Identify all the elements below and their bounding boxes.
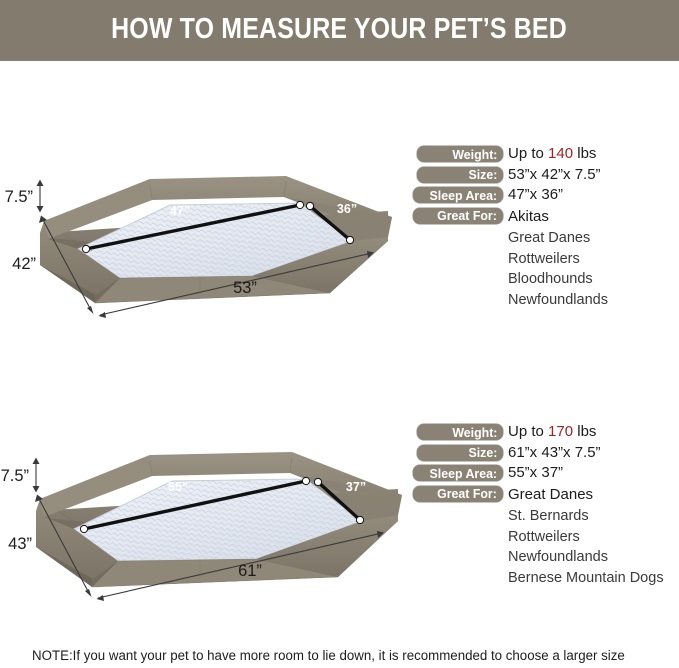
label-height: 7.5” bbox=[1, 467, 29, 485]
sleep-area-label-pill: Sleep Area: bbox=[413, 187, 503, 203]
bed-illustration-xlarge: 55” 37” 7.5” 43” 61” bbox=[0, 425, 410, 615]
footer-note: NOTE:If you want your pet to have more r… bbox=[32, 648, 625, 664]
sleep-area-value: 55”x 37” bbox=[508, 464, 563, 482]
page-title: HOW TO MEASURE YOUR PET’S BED bbox=[112, 15, 568, 44]
breed-item: Akitas bbox=[508, 208, 549, 226]
label-sleep-width: 47” bbox=[170, 204, 190, 218]
great-for-label-pill: Great For: bbox=[413, 208, 503, 224]
weight-label: Weight: bbox=[452, 426, 497, 439]
bed-diagram-xlarge-svg: 55” 37” 7.5” 43” 61” bbox=[0, 425, 410, 615]
breed-item: St. Bernards bbox=[508, 506, 679, 527]
spec-panel-large: Weight: Up to 140 lbs Size: 53”x 42”x 7.… bbox=[413, 146, 679, 310]
breed-list: Great Danes Rottweilers Bloodhounds Newf… bbox=[413, 228, 679, 310]
spec-panel-xlarge: Weight: Up to 170 lbs Size: 61”x 43”x 7.… bbox=[413, 424, 679, 588]
breed-item: Great Danes bbox=[508, 486, 593, 504]
label-depth: 43” bbox=[8, 535, 32, 553]
sleep-area-value: 47”x 36” bbox=[508, 186, 563, 204]
label-width: 53” bbox=[233, 279, 257, 297]
weight-prefix: Up to bbox=[508, 423, 548, 440]
label-sleep-depth: 36” bbox=[337, 202, 357, 216]
spec-row-sleep-area: Sleep Area: 55”x 37” bbox=[413, 465, 679, 486]
size-label-pill: Size: bbox=[417, 167, 503, 183]
spec-row-sleep-area: Sleep Area: 47”x 36” bbox=[413, 187, 679, 208]
spec-row-size: Size: 61”x 43”x 7.5” bbox=[413, 445, 679, 466]
spec-row-weight: Weight: Up to 170 lbs bbox=[413, 424, 679, 445]
breed-item: Newfoundlands bbox=[508, 290, 679, 311]
sleep-area-label: Sleep Area: bbox=[429, 189, 497, 202]
label-width: 61” bbox=[238, 562, 262, 580]
dimension-height bbox=[33, 458, 40, 493]
pet-bed-size-guide: HOW TO MEASURE YOUR PET’S BED bbox=[0, 0, 679, 668]
breed-item: Rottweilers bbox=[508, 249, 679, 270]
weight-number: 170 bbox=[548, 423, 573, 440]
spec-row-weight: Weight: Up to 140 lbs bbox=[413, 146, 679, 167]
weight-label-pill: Weight: bbox=[417, 424, 503, 440]
label-sleep-width: 55” bbox=[168, 480, 188, 494]
bed-diagram-large-svg: 47” 36” 7.5” 42” bbox=[0, 145, 410, 335]
size-label-pill: Size: bbox=[417, 445, 503, 461]
weight-value: Up to 170 lbs bbox=[508, 423, 596, 441]
breed-item: Great Danes bbox=[508, 228, 679, 249]
weight-label: Weight: bbox=[452, 148, 497, 161]
sleep-area-label-pill: Sleep Area: bbox=[413, 465, 503, 481]
weight-number: 140 bbox=[548, 145, 573, 162]
sleep-area-label: Sleep Area: bbox=[429, 467, 497, 480]
breed-item: Bloodhounds bbox=[508, 269, 679, 290]
weight-suffix: lbs bbox=[573, 423, 596, 440]
great-for-label-pill: Great For: bbox=[413, 486, 503, 502]
dimension-height bbox=[37, 180, 44, 213]
header-divider bbox=[0, 58, 679, 61]
size-value: 53”x 42”x 7.5” bbox=[508, 166, 601, 184]
weight-suffix: lbs bbox=[573, 145, 596, 162]
weight-prefix: Up to bbox=[508, 145, 548, 162]
breed-item: Newfoundlands bbox=[508, 547, 679, 568]
header-banner: HOW TO MEASURE YOUR PET’S BED bbox=[0, 0, 679, 58]
spec-row-size: Size: 53”x 42”x 7.5” bbox=[413, 167, 679, 188]
weight-label-pill: Weight: bbox=[417, 146, 503, 162]
weight-value: Up to 140 lbs bbox=[508, 145, 596, 163]
spec-row-great-for: Great For: Akitas bbox=[413, 208, 679, 229]
bed-illustration-large: 47” 36” 7.5” 42” bbox=[0, 145, 410, 335]
spec-row-great-for: Great For: Great Danes bbox=[413, 486, 679, 507]
breed-item: Bernese Mountain Dogs bbox=[508, 568, 679, 589]
great-for-label: Great For: bbox=[437, 209, 497, 222]
label-depth: 42” bbox=[12, 255, 36, 273]
size-label: Size: bbox=[468, 168, 497, 181]
size-label: Size: bbox=[468, 446, 497, 459]
label-height: 7.5” bbox=[5, 188, 33, 206]
breed-item: Rottweilers bbox=[508, 527, 679, 548]
size-value: 61”x 43”x 7.5” bbox=[508, 444, 601, 462]
label-sleep-depth: 37” bbox=[346, 480, 366, 494]
breed-list: St. Bernards Rottweilers Newfoundlands B… bbox=[413, 506, 679, 588]
great-for-label: Great For: bbox=[437, 487, 497, 500]
